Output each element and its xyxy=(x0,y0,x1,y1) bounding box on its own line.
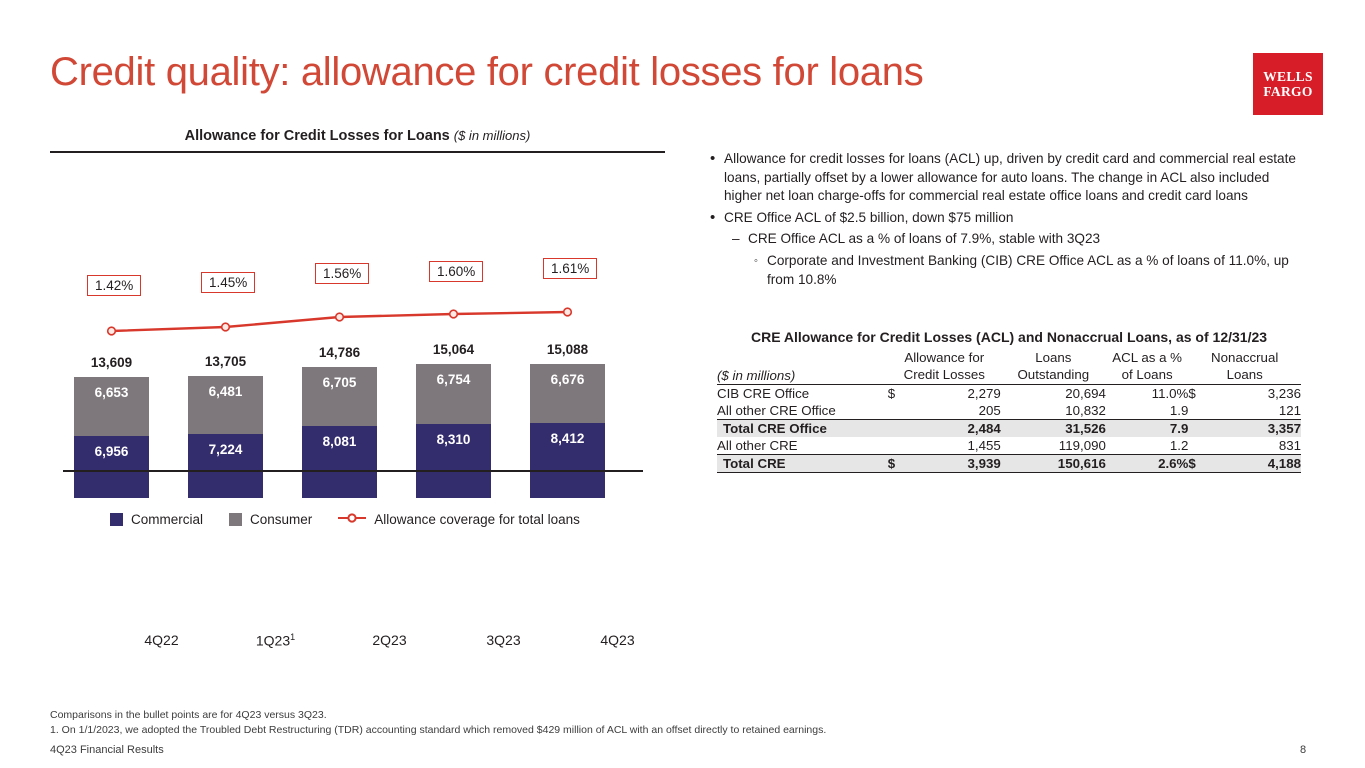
cell-acl-pct-of-loans: 7.9 xyxy=(1106,420,1189,438)
cell-currency-acl xyxy=(888,402,912,420)
wells-fargo-logo: WELLS FARGO xyxy=(1253,53,1323,115)
cell-currency-nonaccrual xyxy=(1188,437,1212,455)
table-row: All other CRE Office20510,8321.9121 xyxy=(717,402,1301,420)
bar-label-commercial: 8,310 xyxy=(416,432,491,447)
cell-nonaccrual-loans: 3,236 xyxy=(1212,385,1301,403)
cell-allowance-credit-losses: 2,279 xyxy=(911,385,1001,403)
cell-nonaccrual-loans: 4,188 xyxy=(1212,455,1301,473)
cell-currency-nonaccrual: $ xyxy=(1188,385,1212,403)
legend-item-commercial: Commercial xyxy=(110,512,203,527)
footnote-line-1: Comparisons in the bullet points are for… xyxy=(50,708,826,723)
hdr-acl-l1: Allowance for xyxy=(904,350,984,365)
bar-total-label: 13,705 xyxy=(188,354,263,369)
coverage-line-marker xyxy=(564,308,572,316)
coverage-pct-callout: 1.42% xyxy=(87,275,141,296)
chart-legend: Commercial Consumer Allowance coverage f… xyxy=(110,512,580,527)
chart-x-axis xyxy=(63,470,643,472)
chart-title-main: Allowance for Credit Losses for Loans xyxy=(185,128,450,144)
bar-label-commercial: 7,224 xyxy=(188,442,263,457)
cell-currency-acl: $ xyxy=(888,385,912,403)
bar-label-consumer: 6,653 xyxy=(74,385,149,400)
legend-label-coverage: Allowance coverage for total loans xyxy=(374,512,580,527)
cell-acl-pct-of-loans: 11.0% xyxy=(1106,385,1189,403)
hdr-na-l2: Loans xyxy=(1227,367,1263,382)
legend-line-marker-icon xyxy=(338,512,366,527)
cell-acl-pct-of-loans: 1.2 xyxy=(1106,437,1189,455)
cell-currency-acl xyxy=(888,437,912,455)
coverage-line-marker xyxy=(450,310,458,318)
bullet-marker-icon: • xyxy=(710,150,724,206)
coverage-pct-callout: 1.45% xyxy=(201,272,255,293)
bar-label-consumer: 6,481 xyxy=(188,384,263,399)
logo-line-1: WELLS xyxy=(1263,69,1313,84)
coverage-pct-callout: 1.60% xyxy=(429,261,483,282)
bar-label-commercial: 8,412 xyxy=(530,431,605,446)
coverage-line-marker xyxy=(222,323,230,331)
chart-title: Allowance for Credit Losses for Loans ($… xyxy=(50,128,665,144)
coverage-pct-callout: 1.56% xyxy=(315,263,369,284)
cell-currency-nonaccrual xyxy=(1188,402,1212,420)
legend-item-coverage-line: Allowance coverage for total loans xyxy=(338,512,580,527)
cell-allowance-credit-losses: 205 xyxy=(911,402,1001,420)
bullet-text: CRE Office ACL as a % of loans of 7.9%, … xyxy=(748,230,1310,249)
cell-loans-outstanding: 119,090 xyxy=(1001,437,1106,455)
bullet-text: Corporate and Investment Banking (CIB) C… xyxy=(767,252,1310,289)
cell-allowance-credit-losses: 1,455 xyxy=(911,437,1001,455)
table-col-header-nonaccrual: Nonaccrual Loans xyxy=(1188,348,1301,384)
bullet-item-level-1: •Allowance for credit losses for loans (… xyxy=(710,150,1310,206)
table-row: CIB CRE Office$2,27920,69411.0%$3,236 xyxy=(717,385,1301,403)
table-row: Total CRE$3,939150,6162.6%$4,188 xyxy=(717,455,1301,473)
table-col-header-acl: Allowance for Credit Losses xyxy=(888,348,1001,384)
cell-row-label: CIB CRE Office xyxy=(717,385,888,403)
cell-row-label: Total CRE Office xyxy=(717,420,888,438)
bar-total-label: 15,064 xyxy=(416,342,491,357)
bar-label-commercial: 8,081 xyxy=(302,434,377,449)
cell-allowance-credit-losses: 2,484 xyxy=(911,420,1001,438)
legend-label-commercial: Commercial xyxy=(131,512,203,527)
bar-label-commercial: 6,956 xyxy=(74,444,149,459)
table-header-row: ($ in millions) Allowance for Credit Los… xyxy=(717,348,1301,384)
hdr-pct-l1: ACL as a % xyxy=(1112,350,1182,365)
coverage-line-path xyxy=(112,312,568,331)
bar-label-consumer: 6,676 xyxy=(530,372,605,387)
cell-row-label: All other CRE Office xyxy=(717,402,888,420)
slide-root: Credit quality: allowance for credit los… xyxy=(0,0,1365,768)
bullet-marker-icon: ◦ xyxy=(754,252,767,289)
chart-panel: Allowance for Credit Losses for Loans ($… xyxy=(50,128,665,538)
table-row: Total CRE Office2,48431,5267.93,357 xyxy=(717,420,1301,438)
coverage-line-marker xyxy=(336,313,344,321)
x-axis-label-2q23: 2Q23 xyxy=(352,632,427,648)
cre-table-title: CRE Allowance for Credit Losses (ACL) an… xyxy=(717,329,1301,345)
coverage-pct-callout: 1.61% xyxy=(543,258,597,279)
bar-total-label: 13,609 xyxy=(74,355,149,370)
hdr-loans-l2: Outstanding xyxy=(1017,367,1089,382)
bar-label-consumer: 6,705 xyxy=(302,375,377,390)
table-body: CIB CRE Office$2,27920,69411.0%$3,236All… xyxy=(717,385,1301,473)
x-axis-label-4q23: 4Q23 xyxy=(580,632,655,648)
legend-swatch-commercial-icon xyxy=(110,513,123,526)
cell-currency-acl: $ xyxy=(888,455,912,473)
bullet-item-level-3: ◦Corporate and Investment Banking (CIB) … xyxy=(754,252,1310,289)
cell-loans-outstanding: 31,526 xyxy=(1001,420,1106,438)
coverage-line-marker xyxy=(108,327,116,335)
cell-currency-acl xyxy=(888,420,912,438)
cell-nonaccrual-loans: 831 xyxy=(1212,437,1301,455)
cell-currency-nonaccrual xyxy=(1188,420,1212,438)
table-unit-label: ($ in millions) xyxy=(717,348,888,384)
logo-line-2: FARGO xyxy=(1263,84,1312,99)
bar-total-label: 15,088 xyxy=(530,342,605,357)
cell-row-label: Total CRE xyxy=(717,455,888,473)
cre-table: ($ in millions) Allowance for Credit Los… xyxy=(717,348,1301,473)
bar-total-label: 14,786 xyxy=(302,345,377,360)
cell-loans-outstanding: 20,694 xyxy=(1001,385,1106,403)
footnote-line-2: 1. On 1/1/2023, we adopted the Troubled … xyxy=(50,723,826,738)
bullet-marker-icon: • xyxy=(710,209,724,228)
bullet-item-level-2: –CRE Office ACL as a % of loans of 7.9%,… xyxy=(732,230,1310,249)
bullet-text: Allowance for credit losses for loans (A… xyxy=(724,150,1310,206)
legend-swatch-consumer-icon xyxy=(229,513,242,526)
bullet-item-level-1: •CRE Office ACL of $2.5 billion, down $7… xyxy=(710,209,1310,228)
cell-nonaccrual-loans: 121 xyxy=(1212,402,1301,420)
cell-loans-outstanding: 10,832 xyxy=(1001,402,1106,420)
table-col-header-pct: ACL as a % of Loans xyxy=(1106,348,1189,384)
cell-acl-pct-of-loans: 2.6% xyxy=(1106,455,1189,473)
chart-title-units: ($ in millions) xyxy=(454,128,531,143)
legend-item-consumer: Consumer xyxy=(229,512,312,527)
table-col-header-loans: Loans Outstanding xyxy=(1001,348,1106,384)
hdr-pct-l2: of Loans xyxy=(1122,367,1173,382)
x-axis-label-1q23: 1Q231 xyxy=(238,632,313,649)
bar-label-consumer: 6,754 xyxy=(416,372,491,387)
commentary-bullets: •Allowance for credit losses for loans (… xyxy=(710,150,1310,292)
cell-loans-outstanding: 150,616 xyxy=(1001,455,1106,473)
x-axis-label-3q23: 3Q23 xyxy=(466,632,541,648)
hdr-loans-l1: Loans xyxy=(1035,350,1071,365)
bullet-text: CRE Office ACL of $2.5 billion, down $75… xyxy=(724,209,1310,228)
cre-table-panel: CRE Allowance for Credit Losses (ACL) an… xyxy=(717,329,1301,473)
x-axis-label-4q22: 4Q22 xyxy=(124,632,199,648)
page-title: Credit quality: allowance for credit los… xyxy=(50,44,923,100)
cell-nonaccrual-loans: 3,357 xyxy=(1212,420,1301,438)
footer-deck-name: 4Q23 Financial Results xyxy=(50,744,164,756)
bullet-marker-icon: – xyxy=(732,230,748,249)
legend-label-consumer: Consumer xyxy=(250,512,312,527)
chart-plot-area: 13,6096,6536,95613,7056,4817,22414,7866,… xyxy=(50,156,665,476)
hdr-acl-l2: Credit Losses xyxy=(904,367,985,382)
cell-row-label: All other CRE xyxy=(717,437,888,455)
chart-title-rule xyxy=(50,151,665,153)
footnotes: Comparisons in the bullet points are for… xyxy=(50,708,826,738)
cell-currency-nonaccrual: $ xyxy=(1188,455,1212,473)
cell-acl-pct-of-loans: 1.9 xyxy=(1106,402,1189,420)
table-row: All other CRE1,455119,0901.2831 xyxy=(717,437,1301,455)
cell-allowance-credit-losses: 3,939 xyxy=(911,455,1001,473)
hdr-na-l1: Nonaccrual xyxy=(1211,350,1278,365)
x-axis-label-footnote-marker: 1 xyxy=(290,632,295,642)
footer-page-number: 8 xyxy=(1300,744,1306,756)
